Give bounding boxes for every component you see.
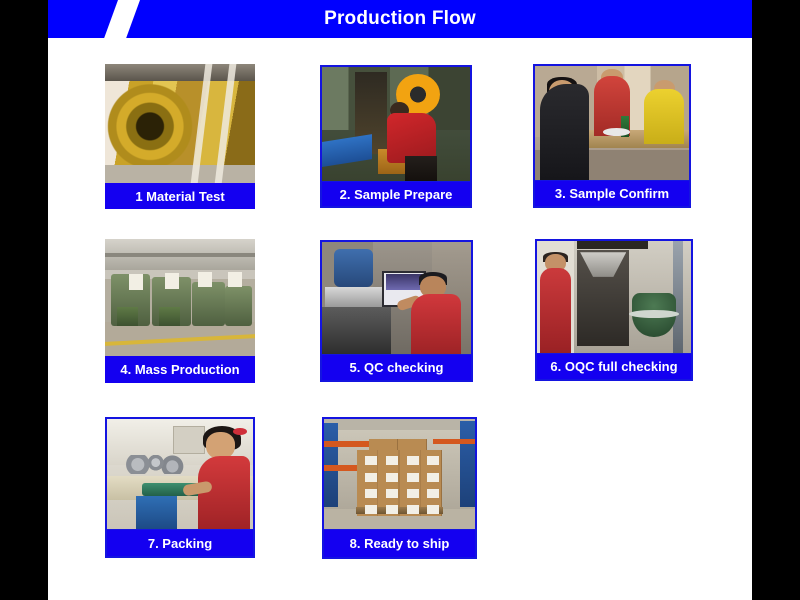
step-6-photo bbox=[535, 239, 693, 355]
step-5-photo bbox=[320, 240, 473, 356]
step-card-4[interactable]: 4. Mass Production bbox=[105, 239, 255, 383]
step-3-label: 3. Sample Confirm bbox=[533, 181, 691, 208]
step-card-2[interactable]: 2. Sample Prepare bbox=[320, 65, 472, 208]
step-card-8[interactable]: 8. Ready to ship bbox=[322, 417, 477, 559]
step-card-6[interactable]: 6. OQC full checking bbox=[535, 239, 693, 381]
slide-canvas: Production Flow 1 Material Test bbox=[0, 0, 800, 600]
step-card-5[interactable]: 5. QC checking bbox=[320, 240, 473, 382]
right-letterbox-bar bbox=[752, 0, 800, 600]
step-8-photo bbox=[322, 417, 477, 531]
left-letterbox-bar bbox=[0, 0, 48, 600]
step-8-label: 8. Ready to ship bbox=[322, 530, 477, 559]
step-4-photo bbox=[105, 239, 255, 357]
step-3-photo bbox=[533, 64, 691, 182]
step-5-label: 5. QC checking bbox=[320, 355, 473, 382]
step-card-7[interactable]: 7. Packing bbox=[105, 417, 255, 558]
step-card-1[interactable]: 1 Material Test bbox=[105, 64, 255, 209]
step-2-label: 2. Sample Prepare bbox=[320, 182, 472, 208]
step-1-label: 1 Material Test bbox=[105, 183, 255, 209]
step-2-photo bbox=[320, 65, 472, 183]
step-7-label: 7. Packing bbox=[105, 530, 255, 558]
step-7-photo bbox=[105, 417, 255, 531]
step-card-3[interactable]: 3. Sample Confirm bbox=[533, 64, 691, 208]
step-4-label: 4. Mass Production bbox=[105, 356, 255, 383]
page-title: Production Flow bbox=[48, 0, 752, 38]
step-6-label: 6. OQC full checking bbox=[535, 354, 693, 381]
step-1-photo bbox=[105, 64, 255, 184]
